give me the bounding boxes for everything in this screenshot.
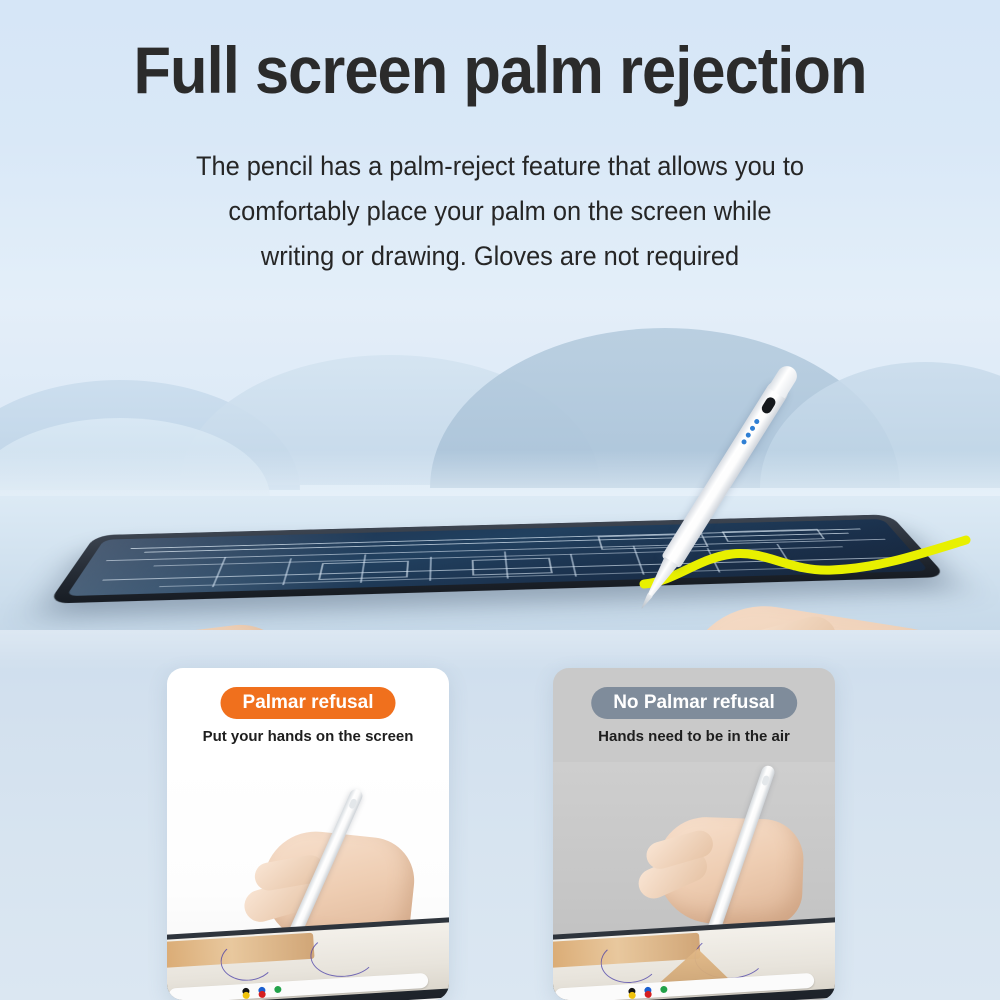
mini-drawing-toolbar: [168, 973, 428, 1000]
subtitle-line-3: writing or drawing. Gloves are not requi…: [133, 234, 866, 279]
comparison-card-palmar-refusal[interactable]: Palmar refusal Put your hands on the scr…: [167, 668, 449, 1000]
subtitle-line-2: comfortably place your palm on the scree…: [133, 189, 866, 234]
hand-resting-on-tablet-photo: [167, 762, 449, 1000]
hero-scene: [0, 300, 1000, 630]
mini-tablet-right: [553, 917, 835, 1000]
comparison-card-no-palmar-refusal[interactable]: No Palmar refusal Hands need to be in th…: [553, 668, 835, 1000]
subtitle-line-1: The pencil has a palm-reject feature tha…: [133, 144, 866, 189]
page-title: Full screen palm rejection: [35, 34, 965, 106]
badge-no-palmar-refusal: No Palmar refusal: [591, 687, 797, 719]
mini-tablet-screen-right: [553, 922, 835, 1000]
mini-tablet-screen-left: [167, 922, 449, 1000]
product-feature-page: Full screen palm rejection The pencil ha…: [0, 0, 1000, 1000]
caption-no-palmar-refusal: Hands need to be in the air: [553, 728, 835, 745]
background-bottom-gradient: [0, 600, 1000, 1000]
badge-palmar-refusal: Palmar refusal: [221, 687, 396, 719]
caption-palmar-refusal: Put your hands on the screen: [167, 728, 449, 745]
hand-hovering-above-tablet-photo: [553, 762, 835, 1000]
mini-tablet-left: [167, 917, 449, 1000]
page-subtitle: The pencil has a palm-reject feature tha…: [133, 144, 866, 279]
